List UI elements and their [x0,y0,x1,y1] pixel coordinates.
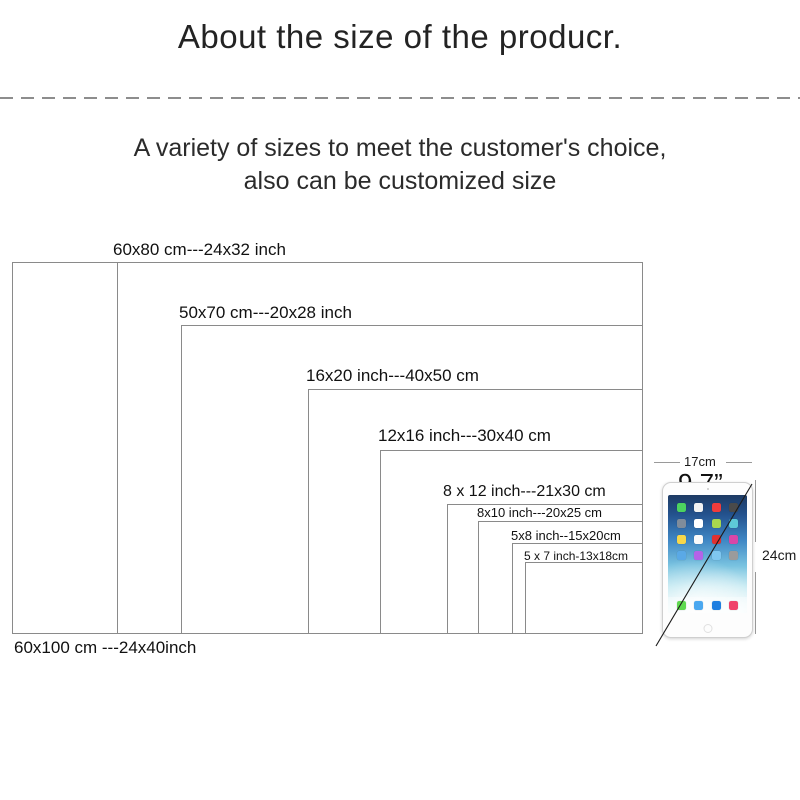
tablet-screen [668,495,747,613]
app-icon-7 [712,519,721,528]
app-icon-12 [729,535,738,544]
tablet-width-label: 17cm [684,454,716,469]
app-icon-6 [694,519,703,528]
app-icon-9 [677,535,686,544]
size-box-5x7 [525,562,643,634]
height-rule-top [755,480,756,542]
camera-icon [707,488,709,490]
app-icon-grid [673,503,742,567]
app-icon-10 [694,535,703,544]
height-rule-bottom [755,572,756,634]
app-dock [668,597,747,613]
size-label-5x8: 5x8 inch--15x20cm [511,528,621,543]
tablet-illustration: 17cm 24cm 9.7” [650,450,800,660]
size-label-16x20: 16x20 inch---40x50 cm [306,366,479,386]
app-icon-15 [712,551,721,560]
dock-icon-3 [712,601,721,610]
size-label-12x16: 12x16 inch---30x40 cm [378,426,551,446]
home-button-icon [703,624,712,633]
size-comparison-chart: 60x80 cm---24x32 inch 50x70 cm---20x28 i… [0,0,800,800]
app-icon-13 [677,551,686,560]
app-icon-8 [729,519,738,528]
width-rule-right [726,462,752,463]
size-label-50x70: 50x70 cm---20x28 inch [179,303,352,323]
dock-icon-4 [729,601,738,610]
app-icon-5 [677,519,686,528]
size-label-60x100: 60x100 cm ---24x40inch [14,638,196,658]
width-rule-left [654,462,680,463]
app-icon-4 [729,503,738,512]
tablet-height-label: 24cm [762,547,796,563]
app-icon-14 [694,551,703,560]
app-icon-2 [694,503,703,512]
app-icon-1 [677,503,686,512]
app-icon-16 [729,551,738,560]
size-label-60x80: 60x80 cm---24x32 inch [113,240,286,260]
dock-icon-1 [677,601,686,610]
size-label-5x7: 5 x 7 inch-13x18cm [524,549,628,563]
app-icon-3 [712,503,721,512]
size-label-8x12: 8 x 12 inch---21x30 cm [443,483,606,501]
dock-icon-2 [694,601,703,610]
size-label-8x10: 8x10 inch---20x25 cm [477,505,602,520]
tablet-body [662,482,753,638]
app-icon-11 [712,535,721,544]
